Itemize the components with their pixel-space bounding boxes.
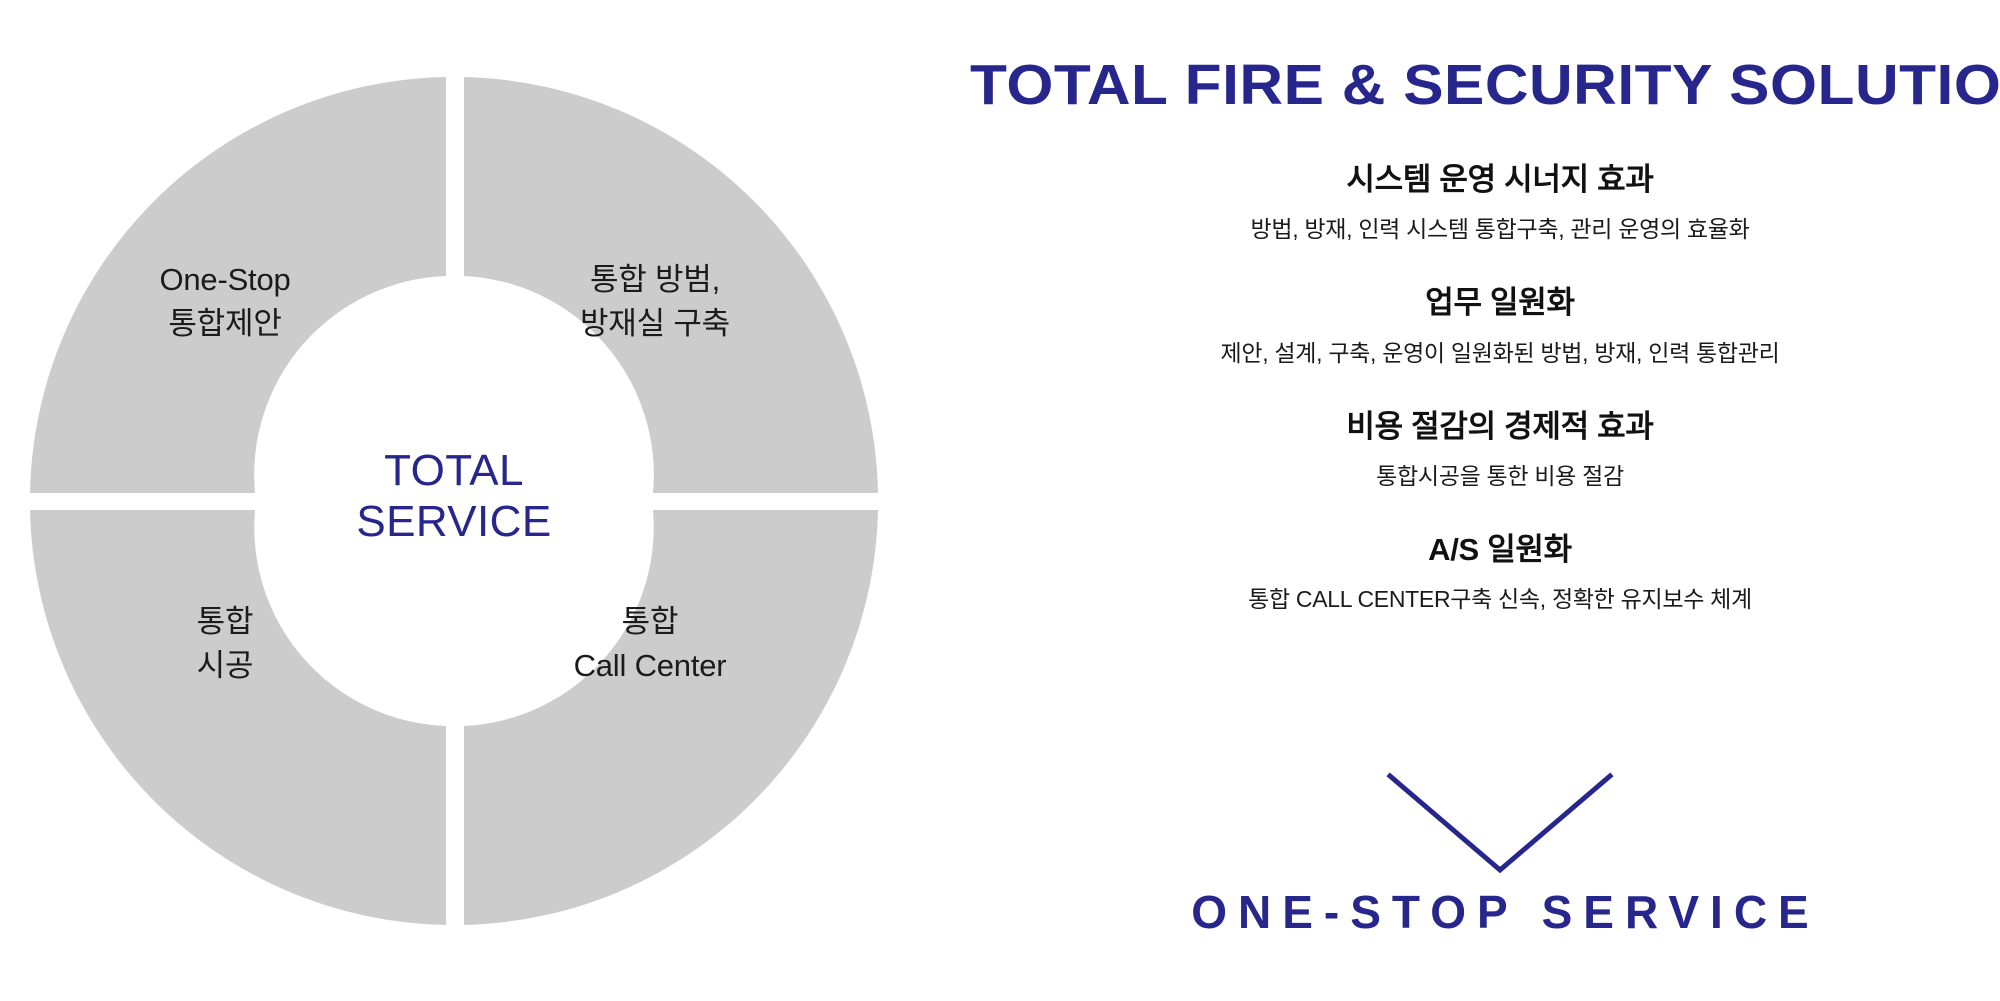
benefit-item-cost-savings: 비용 절감의 경제적 효과 통합시공을 통한 비용 절감 — [1000, 407, 2000, 492]
donut-segment-bottom-right[interactable] — [464, 510, 878, 925]
benefit-description: 통합 CALL CENTER구축 신속, 정확한 유지보수 체계 — [1000, 584, 2000, 615]
benefit-item-as-unification: A/S 일원화 통합 CALL CENTER구축 신속, 정확한 유지보수 체계 — [1000, 530, 2000, 615]
benefit-heading: 업무 일원화 — [1000, 283, 2000, 323]
donut-label-top-right: 통합 방범, 방재실 구축 — [490, 258, 820, 346]
chevron-down-icon — [1380, 770, 1620, 880]
benefit-description: 제안, 설계, 구축, 운영이 일원화된 방법, 방재, 인력 통합관리 — [1000, 338, 2000, 369]
donut-segment-bottom-left[interactable] — [30, 510, 446, 925]
benefit-description: 방법, 방재, 인력 시스템 통합구축, 관리 운영의 효율화 — [1000, 214, 2000, 245]
donut-label-bottom-left: 통합 시공 — [60, 600, 390, 688]
one-stop-service-banner: ONE-STOP SERVICE — [1000, 885, 2000, 939]
page-title: TOTAL FIRE & SECURITY SOLUTION — [970, 52, 2000, 118]
infographic-page: One-Stop 통합제안 통합 방범, 방재실 구축 통합 시공 통합 Cal… — [0, 0, 2000, 1001]
benefit-heading: 시스템 운영 시너지 효과 — [1000, 160, 2000, 200]
benefit-heading: A/S 일원화 — [1000, 530, 2000, 570]
solution-benefits-panel: TOTAL FIRE & SECURITY SOLUTION 시스템 운영 시너… — [1000, 0, 2000, 1001]
benefit-description: 통합시공을 통한 비용 절감 — [1000, 461, 2000, 492]
benefit-item-synergy: 시스템 운영 시너지 효과 방법, 방재, 인력 시스템 통합구축, 관리 운영… — [1000, 160, 2000, 245]
benefit-heading: 비용 절감의 경제적 효과 — [1000, 407, 2000, 447]
benefit-item-unified-operations: 업무 일원화 제안, 설계, 구축, 운영이 일원화된 방법, 방재, 인력 통… — [1000, 283, 2000, 368]
donut-label-bottom-right: 통합 Call Center — [470, 600, 830, 688]
donut-center-label: TOTAL SERVICE — [254, 445, 654, 547]
total-service-donut-diagram: One-Stop 통합제안 통합 방범, 방재실 구축 통합 시공 통합 Cal… — [0, 0, 940, 1001]
benefit-list: 시스템 운영 시너지 효과 방법, 방재, 인력 시스템 통합구축, 관리 운영… — [1000, 160, 2000, 653]
donut-label-top-left: One-Stop 통합제안 — [60, 258, 390, 346]
